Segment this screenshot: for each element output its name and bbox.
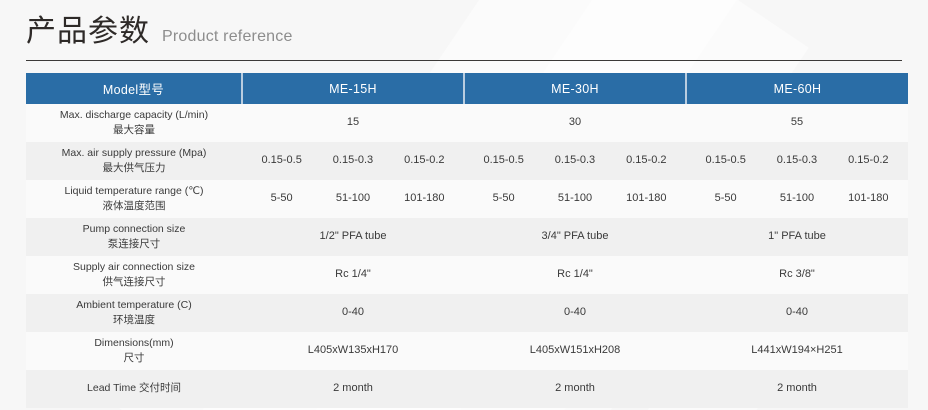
row-value: 3/4" PFA tube <box>464 218 686 256</box>
row-label: Max. air supply pressure (Mpa)最大供气压力 <box>26 142 242 180</box>
sub-value: 5-50 <box>246 191 317 207</box>
row-label-cn: 泵连接尺寸 <box>32 237 236 252</box>
sub-value: 0.15-0.2 <box>389 153 460 169</box>
row-value: 5-5051-100101-180 <box>464 180 686 218</box>
row-label-cn: 最大供气压力 <box>32 161 236 176</box>
row-label-cn: 供气连接尺寸 <box>32 275 236 290</box>
row-value: L405xW151xH208 <box>464 332 686 370</box>
row-label: Supply air connection size供气连接尺寸 <box>26 256 242 294</box>
row-value: 0-40 <box>242 294 464 332</box>
sub-value-group: 5-5051-100101-180 <box>690 191 904 207</box>
row-value: 55 <box>686 104 908 142</box>
row-label: Max. discharge capacity (L/min)最大容量 <box>26 104 242 142</box>
row-label: Lead Time 交付时间 <box>26 370 242 408</box>
table-header-row: Model型号 ME-15H ME-30H ME-60H <box>26 73 908 104</box>
column-header-me-60h: ME-60H <box>686 73 908 104</box>
sub-value: 5-50 <box>690 191 761 207</box>
row-label: Pump connection size泵连接尺寸 <box>26 218 242 256</box>
sub-value: 0.15-0.5 <box>468 153 539 169</box>
table-row: Lead Time 交付时间2 month2 month2 month <box>26 370 908 408</box>
sub-value-group: 0.15-0.50.15-0.30.15-0.2 <box>690 153 904 169</box>
table-row: Pump connection size泵连接尺寸1/2" PFA tube3/… <box>26 218 908 256</box>
sub-value: 51-100 <box>317 191 388 207</box>
table-row: Ambient temperature (C)环境温度0-400-400-40 <box>26 294 908 332</box>
sub-value-group: 5-5051-100101-180 <box>246 191 460 207</box>
row-label-cn: 液体温度范围 <box>32 199 236 214</box>
sub-value-group: 0.15-0.50.15-0.30.15-0.2 <box>468 153 682 169</box>
sub-value: 0.15-0.3 <box>317 153 388 169</box>
row-value: 2 month <box>686 370 908 408</box>
row-label-en: Dimensions(mm) <box>32 336 236 351</box>
row-value: 1/2" PFA tube <box>242 218 464 256</box>
sub-value: 0.15-0.5 <box>690 153 761 169</box>
title-divider <box>26 60 902 61</box>
row-label-cn: 尺寸 <box>32 351 236 366</box>
sub-value: 0.15-0.3 <box>539 153 610 169</box>
sub-value: 0.15-0.2 <box>833 153 904 169</box>
sub-value: 0.15-0.5 <box>246 153 317 169</box>
sub-value: 101-180 <box>833 191 904 207</box>
page-title-cn: 产品参数 <box>26 14 150 50</box>
table-row: Dimensions(mm)尺寸L405xW135xH170L405xW151x… <box>26 332 908 370</box>
sub-value: 0.15-0.3 <box>761 153 832 169</box>
table-row: Supply air connection size供气连接尺寸Rc 1/4"R… <box>26 256 908 294</box>
spec-table-header: Model型号 ME-15H ME-30H ME-60H <box>26 73 908 104</box>
row-value: Rc 1/4" <box>242 256 464 294</box>
row-value: 0-40 <box>686 294 908 332</box>
row-label-en: Liquid temperature range (℃) <box>32 184 236 199</box>
row-value: 2 month <box>464 370 686 408</box>
row-label-en: Max. discharge capacity (L/min) <box>32 108 236 123</box>
sub-value-group: 0.15-0.50.15-0.30.15-0.2 <box>246 153 460 169</box>
sub-value: 5-50 <box>468 191 539 207</box>
row-value: Rc 3/8" <box>686 256 908 294</box>
spec-table-container: Model型号 ME-15H ME-30H ME-60H Max. discha… <box>26 73 908 408</box>
row-label-en: Max. air supply pressure (Mpa) <box>32 146 236 161</box>
sub-value: 101-180 <box>611 191 682 207</box>
row-value: 0-40 <box>464 294 686 332</box>
row-value: 2 month <box>242 370 464 408</box>
sub-value: 0.15-0.2 <box>611 153 682 169</box>
row-value: L405xW135xH170 <box>242 332 464 370</box>
row-label: Ambient temperature (C)环境温度 <box>26 294 242 332</box>
row-value: 0.15-0.50.15-0.30.15-0.2 <box>242 142 464 180</box>
row-label-cn: 最大容量 <box>32 123 236 138</box>
row-label-en: Pump connection size <box>32 222 236 237</box>
row-value: 15 <box>242 104 464 142</box>
row-label-en: Supply air connection size <box>32 260 236 275</box>
sub-value: 51-100 <box>761 191 832 207</box>
column-header-me-30h: ME-30H <box>464 73 686 104</box>
row-value: 5-5051-100101-180 <box>242 180 464 218</box>
row-label-en: Ambient temperature (C) <box>32 298 236 313</box>
spec-table-body: Max. discharge capacity (L/min)最大容量15305… <box>26 104 908 408</box>
row-value: 0.15-0.50.15-0.30.15-0.2 <box>686 142 908 180</box>
row-value: 30 <box>464 104 686 142</box>
product-reference-page: 产品参数 Product reference Model型号 ME-15H ME… <box>0 0 928 410</box>
column-header-model: Model型号 <box>26 73 242 104</box>
row-value: 5-5051-100101-180 <box>686 180 908 218</box>
row-value: L441xW194×H251 <box>686 332 908 370</box>
product-spec-table: Model型号 ME-15H ME-30H ME-60H Max. discha… <box>26 73 908 408</box>
page-title-en: Product reference <box>162 28 293 46</box>
row-label-cn: 环境温度 <box>32 313 236 328</box>
row-value: Rc 1/4" <box>464 256 686 294</box>
row-label-en: Lead Time 交付时间 <box>32 381 236 396</box>
column-header-me-15h: ME-15H <box>242 73 464 104</box>
row-label: Liquid temperature range (℃)液体温度范围 <box>26 180 242 218</box>
row-label: Dimensions(mm)尺寸 <box>26 332 242 370</box>
table-row: Max. air supply pressure (Mpa)最大供气压力0.15… <box>26 142 908 180</box>
row-value: 0.15-0.50.15-0.30.15-0.2 <box>464 142 686 180</box>
sub-value: 51-100 <box>539 191 610 207</box>
sub-value: 101-180 <box>389 191 460 207</box>
table-row: Max. discharge capacity (L/min)最大容量15305… <box>26 104 908 142</box>
page-header: 产品参数 Product reference <box>0 0 928 50</box>
row-value: 1" PFA tube <box>686 218 908 256</box>
table-row: Liquid temperature range (℃)液体温度范围5-5051… <box>26 180 908 218</box>
sub-value-group: 5-5051-100101-180 <box>468 191 682 207</box>
